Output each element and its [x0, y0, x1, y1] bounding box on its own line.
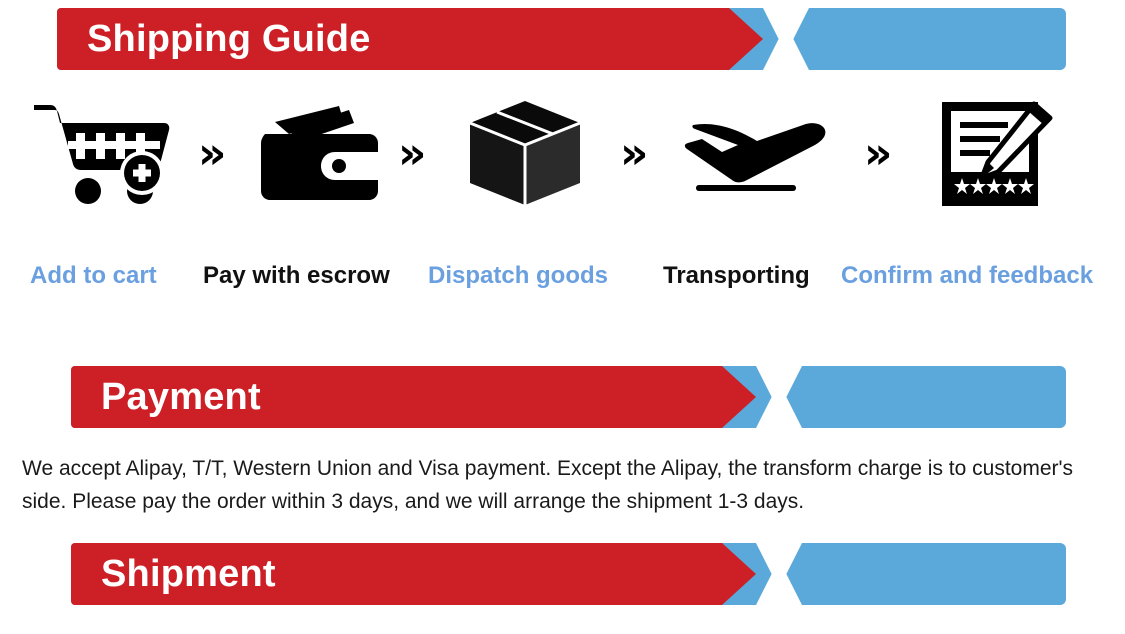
wallet-icon: [258, 94, 388, 214]
section-banner-payment: Payment: [71, 366, 1066, 428]
banner-title-payment: Payment: [101, 366, 261, 428]
banner-title-shipping-guide: Shipping Guide: [87, 8, 371, 70]
section-banner-shipment: Shipment: [71, 543, 1066, 605]
shipping-steps: » » »: [0, 84, 1125, 324]
step-separator-chevron-2: »: [398, 132, 426, 176]
step-separator-chevron-3: »: [620, 132, 648, 176]
shopping-cart-add-icon: [22, 94, 182, 214]
airplane-icon: [672, 94, 832, 214]
step-label-add-to-cart: Add to cart: [30, 262, 157, 290]
payment-description: We accept Alipay, T/T, Western Union and…: [22, 452, 1087, 518]
step-label-dispatch-goods: Dispatch goods: [428, 262, 608, 290]
shipping-steps-icon-row: » » »: [0, 84, 1125, 244]
package-box-icon: [463, 94, 588, 214]
step-label-transporting: Transporting: [663, 262, 810, 290]
section-banner-shipping-guide: Shipping Guide: [57, 8, 1066, 70]
step-separator-chevron-4: »: [864, 132, 892, 176]
step-label-confirm-and-feedback: Confirm and feedback: [841, 262, 1093, 290]
feedback-review-icon: [930, 94, 1065, 214]
banner-title-shipment: Shipment: [101, 543, 276, 605]
step-label-pay-with-escrow: Pay with escrow: [203, 262, 390, 290]
step-separator-chevron-1: »: [198, 132, 226, 176]
